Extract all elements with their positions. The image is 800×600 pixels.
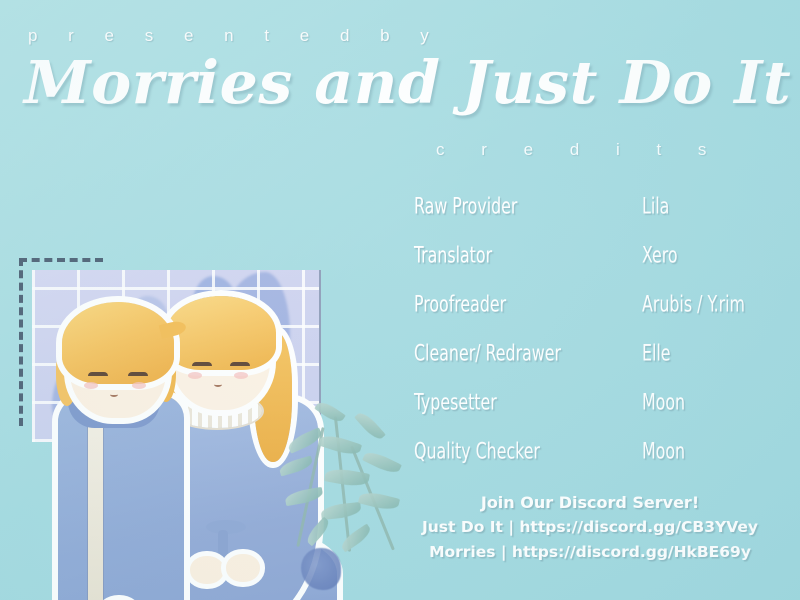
girl-blush-left <box>188 372 202 379</box>
credit-name: Xero <box>642 241 678 268</box>
credits-heading: c r e d i t s <box>436 140 722 160</box>
girl-hand-left <box>190 556 224 584</box>
girl-eye-left <box>192 362 212 366</box>
foliage-leaf <box>278 456 314 477</box>
table-row: Cleaner/ Redrawer Elle <box>414 339 784 388</box>
credit-role: Raw Provider <box>414 192 615 219</box>
illustration-artwork <box>0 118 400 600</box>
foliage-leaf <box>314 399 346 426</box>
presented-by-label: p r e s e n t e d b y <box>28 26 442 46</box>
credit-role: Cleaner/ Redrawer <box>414 339 615 366</box>
credit-name: Moon <box>642 388 685 415</box>
table-row: Quality Checker Moon <box>414 437 784 486</box>
girl-hair-top <box>166 296 276 370</box>
credit-role: Quality Checker <box>414 437 615 464</box>
credits-table: Raw Provider Lila Translator Xero Proofr… <box>414 192 784 486</box>
discord-heading: Join Our Discord Server! <box>380 490 800 515</box>
boy-eye-left <box>88 372 108 376</box>
credit-role: Proofreader <box>414 290 615 317</box>
discord-invite-block: Join Our Discord Server! Just Do It | ht… <box>380 490 800 565</box>
girl-mouth <box>214 382 222 387</box>
credit-name: Moon <box>642 437 685 464</box>
foliage-leaf <box>362 448 402 476</box>
foliage-blue-accent <box>301 548 341 590</box>
credit-role: Translator <box>414 241 615 268</box>
table-row: Typesetter Moon <box>414 388 784 437</box>
girl-blush-right <box>234 372 248 379</box>
boy-eye-right <box>128 372 148 376</box>
table-row: Translator Xero <box>414 241 784 290</box>
boy-pajama-placket <box>88 418 103 600</box>
discord-link-morries[interactable]: Morries | https://discord.gg/HkBE69y <box>380 540 800 565</box>
foliage-leaf <box>284 487 324 506</box>
girl-bow-tail <box>218 530 228 564</box>
boy-blush-left <box>84 382 98 389</box>
discord-link-just-do-it[interactable]: Just Do It | https://discord.gg/CB3YVey <box>380 515 800 540</box>
table-row: Raw Provider Lila <box>414 192 784 241</box>
boy-mouth <box>110 392 118 397</box>
credit-name: Lila <box>642 192 669 219</box>
foliage-leaf <box>339 524 374 553</box>
credit-role: Typesetter <box>414 388 615 415</box>
credit-name: Elle <box>642 339 671 366</box>
foliage-leaf <box>354 409 386 442</box>
credits-page: p r e s e n t e d b y Morries and Just D… <box>0 0 800 600</box>
girl-hand-right <box>226 554 260 582</box>
boy-blush-right <box>132 382 146 389</box>
studio-title: Morries and Just Do It <box>24 44 795 122</box>
credit-name: Arubis / Y.rim <box>642 290 745 317</box>
boy-hair <box>62 302 174 384</box>
foliage-leaf <box>320 502 361 520</box>
girl-eye-right <box>230 362 250 366</box>
table-row: Proofreader Arubis / Y.rim <box>414 290 784 339</box>
foliage-leaf <box>304 517 332 547</box>
